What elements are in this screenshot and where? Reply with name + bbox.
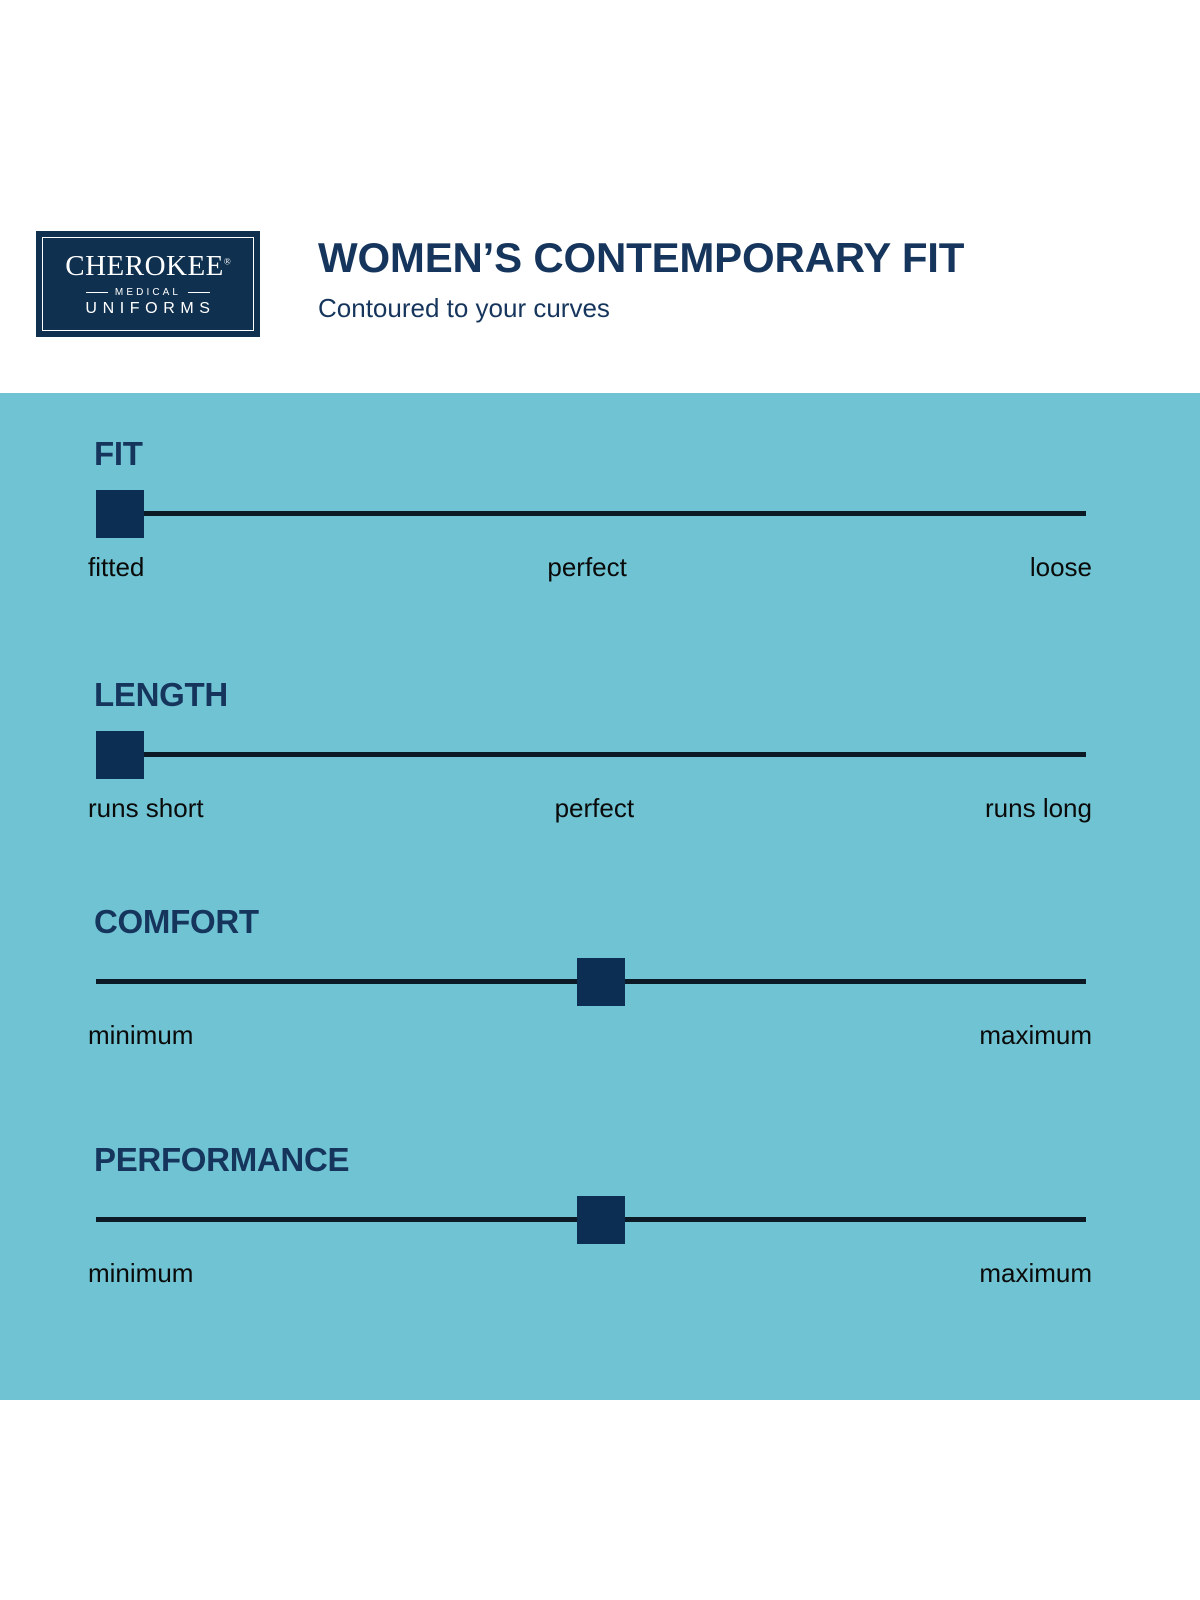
- scale-label-fit-right: loose: [1030, 554, 1092, 580]
- meter-heading-length: LENGTH: [94, 678, 228, 711]
- slider-thumb-fit[interactable]: [96, 490, 144, 538]
- page-subtitle: Contoured to your curves: [318, 294, 964, 323]
- scale-label-length-mid: perfect: [555, 795, 635, 821]
- page-title: WOMEN’S CONTEMPORARY FIT: [318, 236, 964, 280]
- registered-trademark-icon: ®: [224, 256, 231, 266]
- slider-performance[interactable]: [96, 1196, 1086, 1244]
- scale-label-length-right: runs long: [985, 795, 1092, 821]
- scale-label-fit-mid: perfect: [547, 554, 627, 580]
- meter-heading-performance: PERFORMANCE: [94, 1143, 349, 1176]
- meter-heading-comfort: COMFORT: [94, 905, 259, 938]
- meter-fit: FIT fitted perfect loose: [0, 437, 1200, 637]
- meter-performance: PERFORMANCE minimum maximum: [0, 1143, 1200, 1343]
- slider-track-length[interactable]: [96, 752, 1086, 757]
- slider-comfort[interactable]: [96, 958, 1086, 1006]
- title-block: WOMEN’S CONTEMPORARY FIT Contoured to yo…: [318, 236, 964, 323]
- slider-fit[interactable]: [96, 490, 1086, 538]
- scale-label-comfort-left: minimum: [88, 1022, 193, 1048]
- scale-labels-fit: fitted perfect loose: [88, 554, 1092, 580]
- meter-heading-fit: FIT: [94, 437, 143, 470]
- fit-guide-page: CHEROKEE® MEDICAL UNIFORMS WOMEN’S CONTE…: [0, 0, 1200, 1600]
- cherokee-medical-uniforms-logo: CHEROKEE® MEDICAL UNIFORMS: [36, 231, 260, 337]
- logo-medical-text: MEDICAL: [115, 288, 181, 298]
- scale-label-fit-left: fitted: [88, 554, 144, 580]
- logo-brand-name: CHEROKEE®: [65, 252, 231, 281]
- slider-track-fit[interactable]: [96, 511, 1086, 516]
- scale-labels-length: runs short perfect runs long: [88, 795, 1092, 821]
- scale-labels-performance: minimum maximum: [88, 1260, 1092, 1286]
- logo-medical-row: MEDICAL: [86, 288, 210, 298]
- scale-label-performance-left: minimum: [88, 1260, 193, 1286]
- logo-right-rule-icon: [188, 292, 210, 294]
- slider-thumb-comfort[interactable]: [577, 958, 625, 1006]
- scale-label-performance-right: maximum: [979, 1260, 1092, 1286]
- logo-inner-frame: CHEROKEE® MEDICAL UNIFORMS: [42, 237, 254, 331]
- meter-comfort: COMFORT minimum maximum: [0, 905, 1200, 1105]
- page-header: CHEROKEE® MEDICAL UNIFORMS WOMEN’S CONTE…: [0, 0, 1200, 393]
- logo-uniforms-text: UNIFORMS: [85, 301, 215, 317]
- meter-length: LENGTH runs short perfect runs long: [0, 678, 1200, 878]
- scale-label-length-left: runs short: [88, 795, 204, 821]
- slider-length[interactable]: [96, 731, 1086, 779]
- fit-meters-panel: FIT fitted perfect loose LENGTH runs sho…: [0, 393, 1200, 1400]
- scale-label-comfort-right: maximum: [979, 1022, 1092, 1048]
- scale-labels-comfort: minimum maximum: [88, 1022, 1092, 1048]
- logo-left-rule-icon: [86, 292, 108, 294]
- logo-brand-text: CHEROKEE: [65, 250, 224, 282]
- slider-thumb-performance[interactable]: [577, 1196, 625, 1244]
- slider-thumb-length[interactable]: [96, 731, 144, 779]
